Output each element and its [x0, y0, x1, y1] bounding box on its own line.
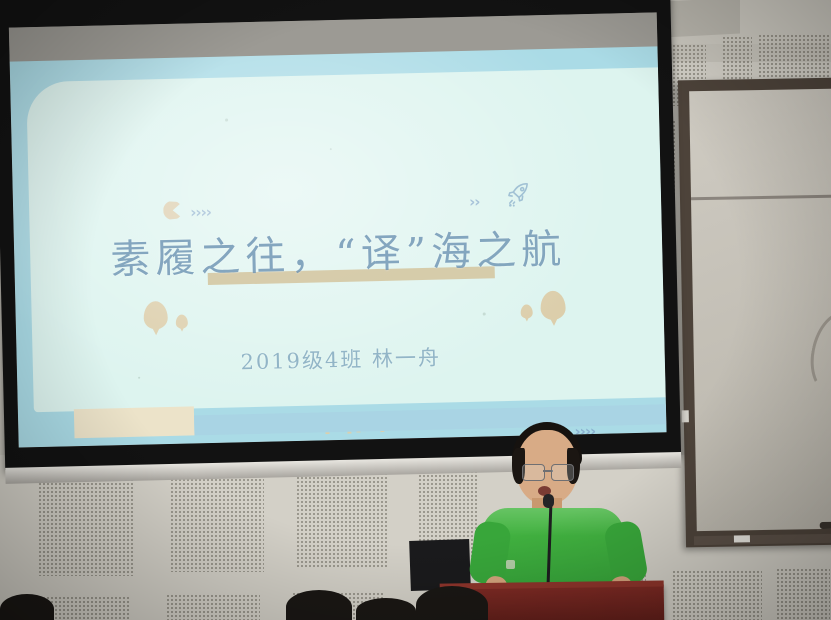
slide-bottom-cream-bar — [74, 407, 195, 439]
glasses-icon — [522, 464, 574, 479]
acoustic-panel — [38, 478, 134, 576]
shirt-logo — [506, 560, 515, 569]
marker-tray — [694, 534, 831, 546]
acoustic-panel — [166, 594, 260, 620]
microphone-head-icon — [543, 494, 554, 508]
dust-speck — [483, 313, 486, 316]
glasses-lens-left — [522, 464, 545, 481]
acoustic-panel — [672, 570, 762, 620]
audience-head — [286, 590, 352, 620]
screen-surface: ›››› ›› — [9, 12, 667, 447]
rocket-icon — [505, 180, 534, 214]
acoustic-panel — [776, 568, 830, 620]
glasses-lens-right — [551, 464, 574, 481]
audience-head — [0, 594, 54, 620]
balloon-icon — [521, 304, 533, 318]
audience-head — [416, 586, 488, 620]
whiteboard-scribble — [804, 306, 831, 398]
dust-speck — [330, 148, 332, 150]
whiteboard-seam — [691, 195, 831, 201]
balloon-icon — [176, 315, 188, 329]
whiteboard — [678, 78, 831, 548]
photo-scene: ›››› ›› — [0, 0, 831, 620]
acoustic-panel — [296, 472, 388, 568]
acoustic-panel — [170, 474, 264, 572]
dust-speck — [225, 119, 228, 122]
whiteboard-marker — [820, 522, 831, 529]
chevrons-top-right-icon: ›› — [469, 193, 480, 211]
board-clip — [682, 410, 689, 422]
audience-head — [356, 598, 416, 620]
presentation-slide: ›››› ›› — [10, 46, 667, 447]
whiteboard-surface — [689, 89, 831, 531]
projection-screen: ›››› ›› — [0, 0, 681, 470]
chevrons-top-left-icon: ›››› — [190, 203, 211, 221]
board-label-tag — [734, 535, 750, 542]
